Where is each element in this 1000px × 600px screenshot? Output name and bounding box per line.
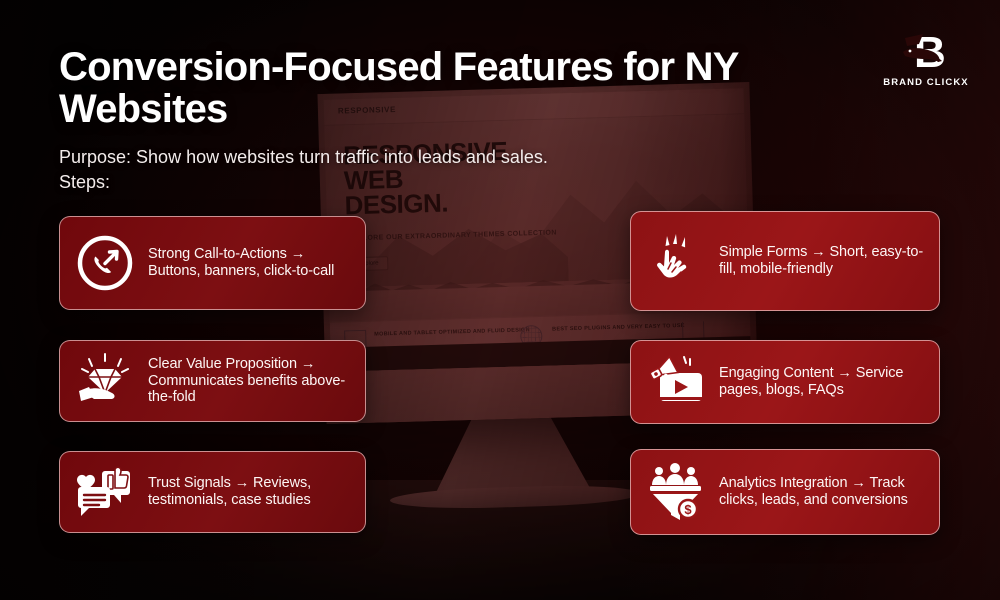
logo-wordmark: BRAND CLICKX: [876, 77, 976, 88]
feature-card-text: Trust Signals → Reviews, testimonials, c…: [148, 475, 351, 509]
feature-card-text: Strong Call-to-Actions → Buttons, banner…: [148, 246, 351, 280]
chat-thumbs-up-heart-icon: [74, 461, 136, 523]
diamond-in-hand-icon: [74, 350, 136, 412]
svg-text:$: $: [684, 502, 692, 517]
megaphone-video-play-icon: [645, 351, 707, 413]
feature-card-content[interactable]: Engaging Content → Service pages, blogs,…: [630, 340, 940, 424]
page-title: Conversion-Focused Features for NY Websi…: [59, 47, 819, 130]
feature-card-text: Clear Value Proposition → Communicates b…: [148, 356, 351, 407]
feature-card-cta[interactable]: Strong Call-to-Actions → Buttons, banner…: [59, 216, 366, 310]
phone-call-arrow-icon: [74, 232, 136, 294]
funnel-people-dollar-icon: $: [645, 461, 707, 523]
steps-label: Steps:: [59, 171, 110, 194]
feature-card-text: Simple Forms → Short, easy-to-fill, mobi…: [719, 244, 925, 278]
feature-card-text: Analytics Integration → Track clicks, le…: [719, 475, 925, 509]
feature-card-value[interactable]: Clear Value Proposition → Communicates b…: [59, 340, 366, 422]
feature-card-text: Engaging Content → Service pages, blogs,…: [719, 365, 925, 399]
feature-card-forms[interactable]: Simple Forms → Short, easy-to-fill, mobi…: [630, 211, 940, 311]
hand-tap-click-icon: [645, 230, 707, 292]
purpose-text: Purpose: Show how websites turn traffic …: [59, 146, 759, 169]
slide-canvas: RESPONSIVE RESPONSIVEWEBDESIGN. EXPLORE …: [0, 0, 1000, 600]
feature-card-trust[interactable]: Trust Signals → Reviews, testimonials, c…: [59, 451, 366, 533]
logo-b-panther-icon: B: [897, 28, 955, 72]
content-layer: Conversion-Focused Features for NY Websi…: [0, 0, 1000, 600]
brand-logo[interactable]: B BRAND CLICKX: [876, 28, 976, 88]
feature-card-analytics[interactable]: $ Analytics Integration → Track clicks, …: [630, 449, 940, 535]
